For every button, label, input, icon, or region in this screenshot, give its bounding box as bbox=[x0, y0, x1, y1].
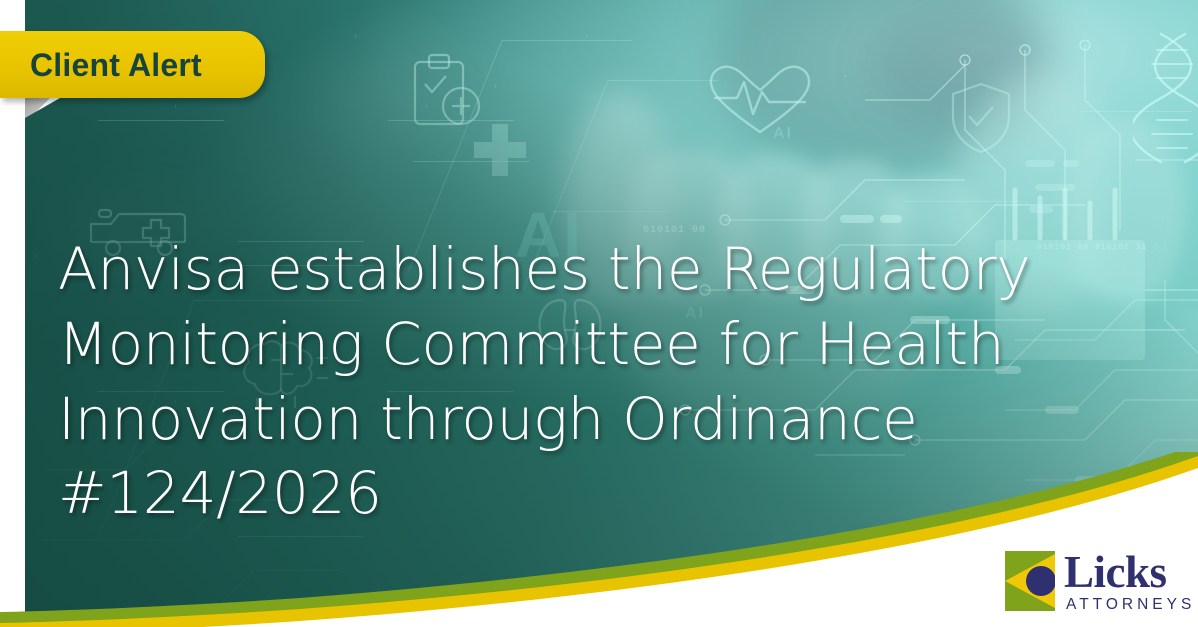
client-alert-label: Client Alert bbox=[30, 49, 202, 81]
client-alert-banner: AI AI AI AI 010101 00 010101 00 010101 1… bbox=[0, 0, 1198, 627]
ai-label-small-3: AI bbox=[1150, 240, 1170, 258]
licks-attorneys-logo[interactable]: Licks ATTORNEYS bbox=[983, 535, 1198, 627]
logo-circle-shape bbox=[1026, 566, 1055, 596]
logo-name: Licks bbox=[1064, 550, 1195, 595]
client-alert-badge: Client Alert bbox=[0, 31, 265, 98]
ai-label-small-1: AI bbox=[773, 125, 793, 143]
licks-logo-mark-icon bbox=[1005, 551, 1055, 611]
logo-subtitle: ATTORNEYS bbox=[1066, 597, 1195, 613]
logo-wordmark: Licks ATTORNEYS bbox=[1064, 550, 1195, 613]
